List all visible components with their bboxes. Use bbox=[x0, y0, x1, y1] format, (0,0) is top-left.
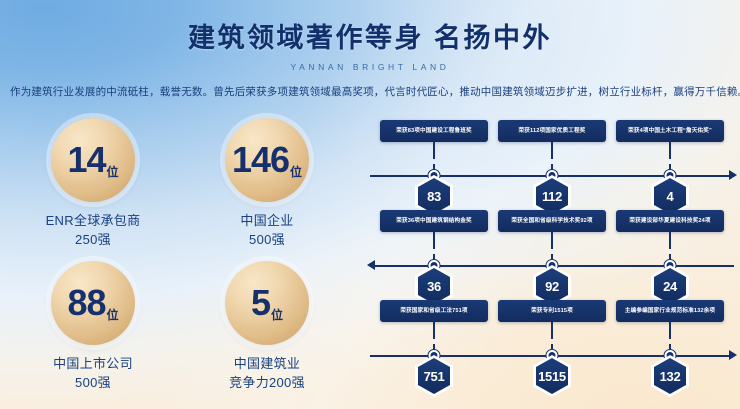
page-subtitle: YANNAN BRIGHT LAND bbox=[0, 62, 740, 72]
stat-label-line2: 250强 bbox=[46, 230, 141, 249]
stat-label-line2: 500强 bbox=[53, 373, 133, 392]
count-badge-value: 132 bbox=[654, 358, 686, 394]
timeline-node[interactable]: 荣获4项中国土木工程“詹天佑奖” 4 bbox=[616, 120, 724, 217]
stat-coin: 146 位 bbox=[225, 118, 309, 202]
stat-label-line1: 中国建筑业 bbox=[229, 354, 305, 373]
timeline-node[interactable]: 荣获112项国家优质工程奖 112 bbox=[498, 120, 606, 217]
count-badge-value: 1515 bbox=[536, 358, 568, 394]
stat-label-line1: 中国上市公司 bbox=[53, 354, 133, 373]
arrow-left-icon bbox=[367, 260, 375, 270]
timeline-row: 荣获36项中国建筑钢结构金奖 36 荣获全国和省级科学技术奖92项 92 荣获建… bbox=[368, 210, 736, 300]
connector-stem bbox=[433, 232, 435, 249]
page-title: 建筑领域著作等身 名扬中外 bbox=[0, 16, 740, 55]
award-card[interactable]: 荣获4项中国土木工程“詹天佑奖” bbox=[616, 120, 724, 142]
stat-value: 14 bbox=[67, 118, 105, 202]
stat-coin: 5 位 bbox=[225, 261, 309, 345]
connector-stem bbox=[433, 322, 435, 339]
stat-unit: 位 bbox=[107, 306, 119, 345]
stat-item: 88 位 中国上市公司 500强 bbox=[6, 261, 180, 404]
timeline-node[interactable]: 荣获国家和省级工法751项 751 bbox=[380, 300, 488, 397]
timeline-row: 荣获83项中国建设工程鲁班奖 83 荣获112项国家优质工程奖 112 荣获4项… bbox=[368, 120, 736, 210]
award-card[interactable]: 荣获建设部华夏建设科技奖24项 bbox=[616, 210, 724, 232]
connector-stem bbox=[551, 322, 553, 339]
stat-unit: 位 bbox=[107, 163, 119, 202]
intro-paragraph: 作为建筑行业发展的中流砥柱，载誉无数。曾先后荣获多项建筑领域最高奖项，代言时代匠… bbox=[0, 84, 740, 100]
timeline-node[interactable]: 主编参编国家行业规范标准132余项 132 bbox=[616, 300, 724, 397]
timeline-node[interactable]: 荣获专利1515项 1515 bbox=[498, 300, 606, 397]
award-card[interactable]: 荣获专利1515项 bbox=[498, 300, 606, 322]
timeline-node[interactable]: 荣获83项中国建设工程鲁班奖 83 bbox=[380, 120, 488, 217]
stat-item: 5 位 中国建筑业 竞争力200强 bbox=[180, 261, 354, 404]
stat-label: ENR全球承包商 250强 bbox=[46, 211, 141, 249]
stat-value: 146 bbox=[232, 118, 289, 202]
award-card[interactable]: 荣获112项国家优质工程奖 bbox=[498, 120, 606, 142]
award-card[interactable]: 主编参编国家行业规范标准132余项 bbox=[616, 300, 724, 322]
arrow-right-icon bbox=[729, 350, 737, 360]
count-badge-value: 24 bbox=[654, 268, 686, 304]
count-badge-value: 83 bbox=[418, 178, 450, 214]
connector-stem bbox=[551, 142, 553, 159]
stat-unit: 位 bbox=[290, 163, 302, 202]
connector-stem bbox=[669, 142, 671, 159]
timeline-row: 荣获国家和省级工法751项 751 荣获专利1515项 1515 主编参编国家行… bbox=[368, 300, 736, 390]
count-badge-value: 751 bbox=[418, 358, 450, 394]
stat-label: 中国建筑业 竞争力200强 bbox=[229, 354, 305, 392]
connector-stem bbox=[669, 232, 671, 249]
header: 建筑领域著作等身 名扬中外 YANNAN BRIGHT LAND bbox=[0, 16, 740, 72]
arrow-right-icon bbox=[729, 170, 737, 180]
timeline-node[interactable]: 荣获全国和省级科学技术奖92项 92 bbox=[498, 210, 606, 307]
stat-item: 146 位 中国企业 500强 bbox=[180, 118, 354, 261]
count-badge-value: 4 bbox=[654, 178, 686, 214]
award-card[interactable]: 荣获全国和省级科学技术奖92项 bbox=[498, 210, 606, 232]
stat-unit: 位 bbox=[271, 306, 283, 345]
promo-banner: 建筑领域著作等身 名扬中外 YANNAN BRIGHT LAND 作为建筑行业发… bbox=[0, 0, 740, 409]
stat-label: 中国上市公司 500强 bbox=[53, 354, 133, 392]
connector-stem bbox=[433, 142, 435, 159]
connector-stem bbox=[669, 322, 671, 339]
award-card[interactable]: 荣获国家和省级工法751项 bbox=[380, 300, 488, 322]
stat-value: 88 bbox=[67, 261, 105, 345]
count-badge: 132 bbox=[651, 355, 689, 397]
stat-label-line2: 500强 bbox=[240, 230, 293, 249]
count-badge-value: 36 bbox=[418, 268, 450, 304]
count-badge-value: 112 bbox=[536, 178, 568, 214]
stat-coin: 14 位 bbox=[51, 118, 135, 202]
count-badge: 1515 bbox=[533, 355, 571, 397]
stat-label-line2: 竞争力200强 bbox=[229, 373, 305, 392]
stat-value: 5 bbox=[251, 261, 270, 345]
stat-coin: 88 位 bbox=[51, 261, 135, 345]
stats-grid: 14 位 ENR全球承包商 250强 146 位 中国企业 500强 bbox=[6, 118, 354, 403]
stat-label-line1: ENR全球承包商 bbox=[46, 211, 141, 230]
count-badge: 751 bbox=[415, 355, 453, 397]
timeline-node[interactable]: 荣获建设部华夏建设科技奖24项 24 bbox=[616, 210, 724, 307]
count-badge-value: 92 bbox=[536, 268, 568, 304]
award-card[interactable]: 荣获36项中国建筑钢结构金奖 bbox=[380, 210, 488, 232]
timeline-node[interactable]: 荣获36项中国建筑钢结构金奖 36 bbox=[380, 210, 488, 307]
awards-timelines: 荣获83项中国建设工程鲁班奖 83 荣获112项国家优质工程奖 112 荣获4项… bbox=[368, 120, 736, 405]
stat-label: 中国企业 500强 bbox=[240, 211, 293, 249]
stat-item: 14 位 ENR全球承包商 250强 bbox=[6, 118, 180, 261]
award-card[interactable]: 荣获83项中国建设工程鲁班奖 bbox=[380, 120, 488, 142]
connector-stem bbox=[551, 232, 553, 249]
stat-label-line1: 中国企业 bbox=[240, 211, 293, 230]
